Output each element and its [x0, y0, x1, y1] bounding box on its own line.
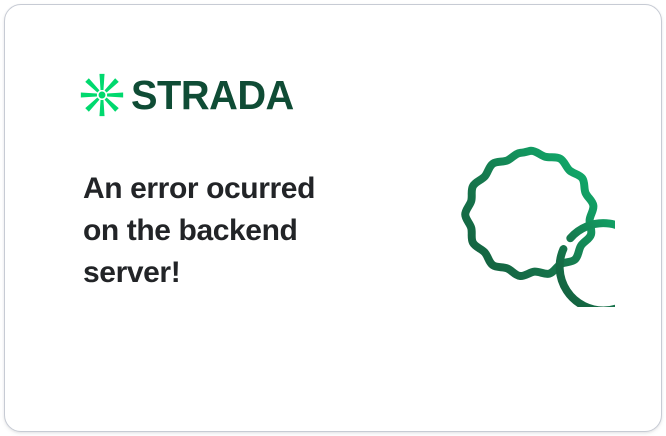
gear-illustration	[447, 139, 615, 307]
brand-logo: STRADA	[79, 71, 299, 119]
error-message-line-3: server!	[83, 252, 383, 294]
error-message-line-1: An error ocurred	[83, 168, 383, 210]
error-card: STRADA An error ocurred on the backend s…	[4, 4, 662, 432]
brand-wordmark: STRADA	[131, 75, 294, 116]
screen: STRADA An error ocurred on the backend s…	[0, 0, 666, 436]
gear-icon	[447, 139, 615, 307]
strada-asterisk-icon	[79, 72, 125, 118]
error-message: An error ocurred on the backend server!	[83, 168, 383, 294]
error-message-line-2: on the backend	[83, 210, 383, 252]
